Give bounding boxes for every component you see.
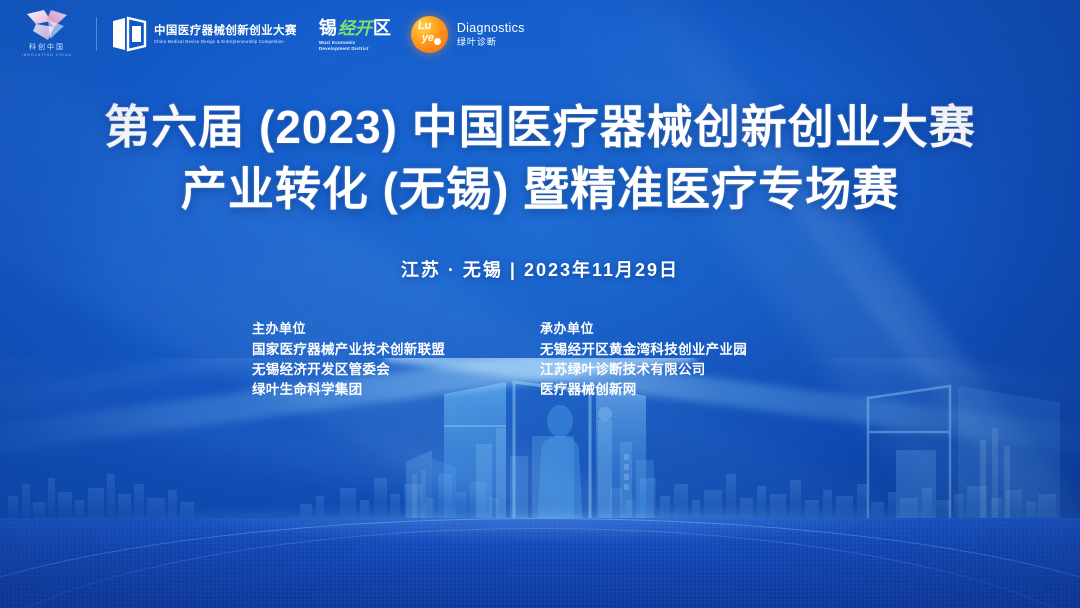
host-organizer-item: 绿叶生命科学集团 — [252, 380, 540, 400]
ground-plane — [0, 518, 1080, 608]
logo-luye-text: Diagnostics 绿叶诊断 — [457, 21, 525, 48]
logo-cmdc-text: 中国医疗器械创新创业大赛 China Medical Device Design… — [154, 24, 297, 45]
luye-badge-icon: Lu ye — [411, 16, 448, 53]
event-title-line-2: 产业转化 (无锡) 暨精准医疗专场赛 — [0, 158, 1080, 220]
logo-divider — [96, 17, 97, 51]
cohost-organizer-item: 医疗器械创新网 — [540, 380, 828, 400]
logo-wuxi-edd: 锡 经开 区 Wuxi Economic Development Distric… — [319, 16, 391, 53]
open-door-icon — [111, 16, 147, 52]
logo-wuxi-cn-c: 区 — [373, 19, 391, 38]
cohost-organizers-heading: 承办单位 — [540, 318, 828, 340]
host-organizer-item: 无锡经济开发区管委会 — [252, 360, 540, 380]
event-location-date: 江苏 · 无锡 | 2023年11月29日 — [0, 256, 1080, 282]
logo-wuxi-calligraphy: 锡 经开 区 — [319, 16, 391, 38]
event-title-line-1: 第六届 (2023) 中国医疗器械创新创业大赛 — [0, 96, 1080, 158]
event-title: 第六届 (2023) 中国医疗器械创新创业大赛 产业转化 (无锡) 暨精准医疗专… — [0, 96, 1080, 220]
logo-innovation-china-caption: 科创中国 INNOVATION CHINA — [14, 44, 80, 58]
logo-cmdc-cn: 中国医疗器械创新创业大赛 — [154, 24, 297, 38]
logo-luye-en: Diagnostics — [457, 21, 525, 36]
cohost-organizers-column: 承办单位 无锡经开区黄金湾科技创业产业园 江苏绿叶诊断技术有限公司 医疗器械创新… — [540, 318, 828, 400]
event-poster: 科创中国 INNOVATION CHINA 中国医疗器械创新创业大赛 China… — [0, 0, 1080, 608]
logo-wuxi-cn-a: 锡 — [319, 19, 337, 38]
logo-luye-cn: 绿叶诊断 — [457, 36, 525, 48]
host-organizers-column: 主办单位 国家医疗器械产业技术创新联盟 无锡经济开发区管委会 绿叶生命科学集团 — [252, 318, 540, 400]
logo-wuxi-en: Wuxi Economic Development District — [319, 40, 369, 53]
luye-badge-dot — [434, 38, 441, 45]
bird-mark-icon — [24, 8, 70, 42]
cohost-organizer-item: 无锡经开区黄金湾科技创业产业园 — [540, 340, 828, 360]
logo-wuxi-cn-b: 经开 — [338, 19, 372, 38]
logo-luye-diagnostics: Lu ye Diagnostics 绿叶诊断 — [411, 16, 525, 53]
host-organizer-item: 国家医疗器械产业技术创新联盟 — [252, 340, 540, 360]
host-organizers-heading: 主办单位 — [252, 318, 540, 340]
logo-wuxi-en-line2: Development District — [319, 46, 369, 53]
luye-badge-bottom: ye — [422, 33, 434, 44]
logo-innovation-china: 科创中国 INNOVATION CHINA — [14, 6, 80, 62]
organizers-section: 主办单位 国家医疗器械产业技术创新联盟 无锡经济开发区管委会 绿叶生命科学集团 … — [0, 318, 1080, 400]
logo-caption-en: INNOVATION CHINA — [16, 52, 79, 58]
logo-caption-cn: 科创中国 — [14, 44, 80, 52]
sponsor-logo-bar: 科创中国 INNOVATION CHINA 中国医疗器械创新创业大赛 China… — [0, 0, 1080, 68]
logo-cmdc-en: China Medical Device Design & Entreprene… — [154, 37, 297, 44]
luye-badge-top: Lu — [418, 21, 431, 32]
cohost-organizer-item: 江苏绿叶诊断技术有限公司 — [540, 360, 828, 380]
logo-cmdc: 中国医疗器械创新创业大赛 China Medical Device Design… — [111, 16, 297, 52]
